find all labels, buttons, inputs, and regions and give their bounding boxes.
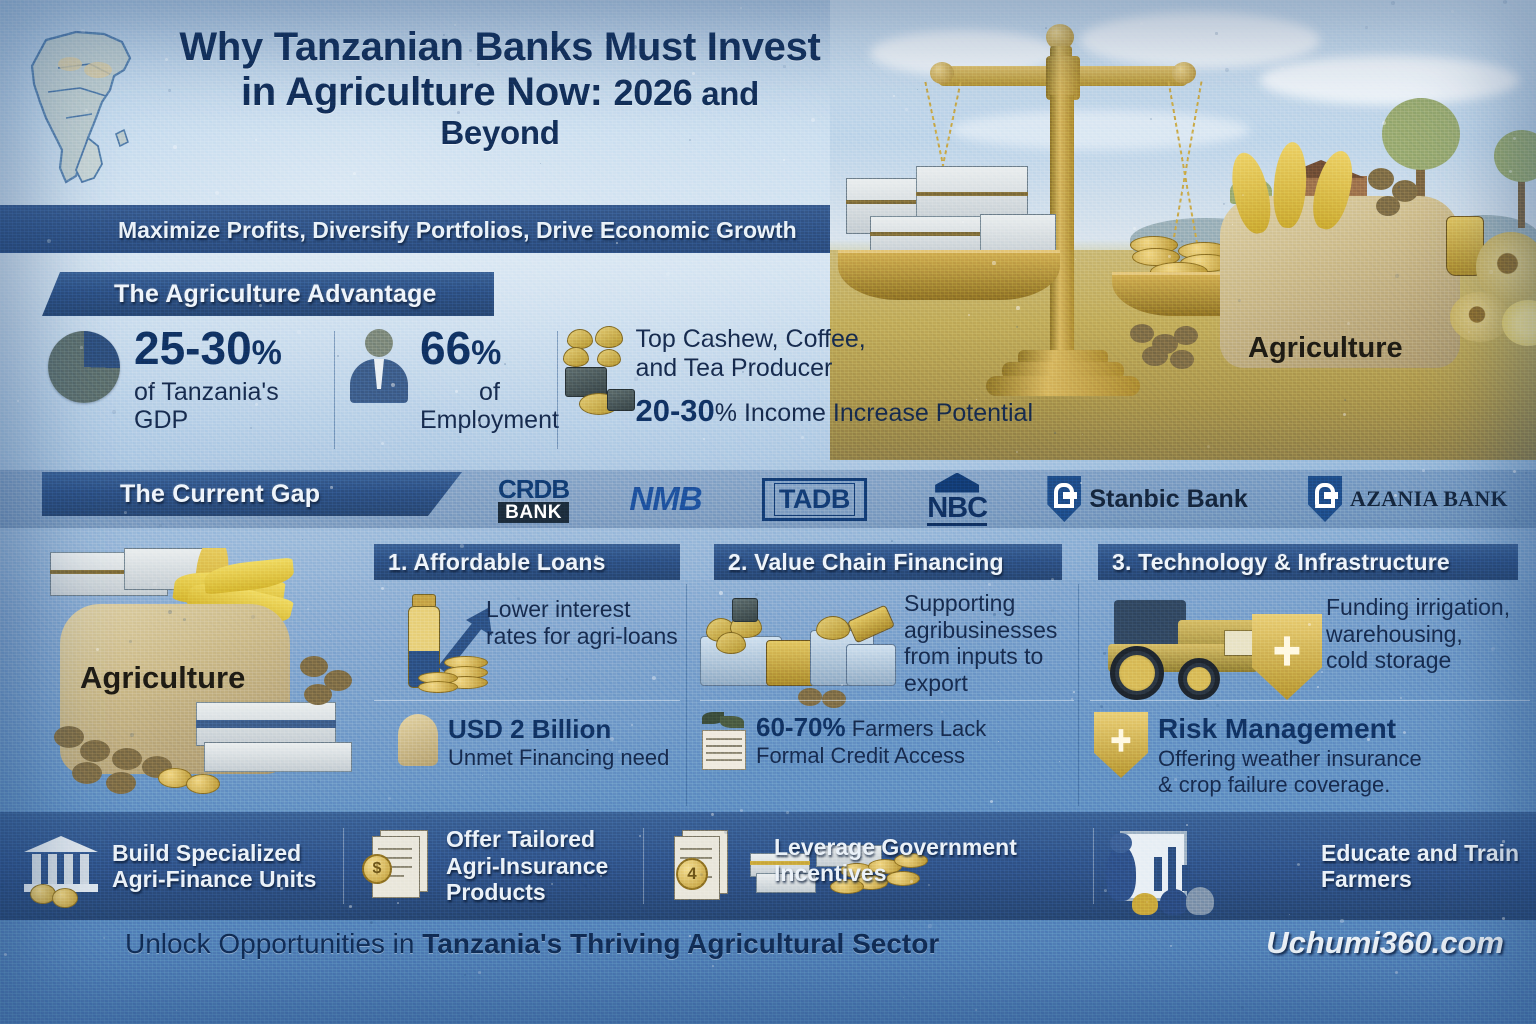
bank-column [64,854,73,884]
pillar-header-2: 2. Value Chain Financing [714,544,1062,580]
title-line-1: Why Tanzanian Banks Must Invest [175,25,825,70]
stat-employment-value: 66% [420,325,559,371]
pillar-divider [686,584,687,806]
stat-employment: 66% of Employment [348,325,563,455]
person-icon [348,329,410,403]
trainer-head [1110,833,1132,853]
action-build-agri-finance-units[interactable]: Build Specialized Agri-Finance Units [0,812,344,920]
action-leverage-government-incentives[interactable]: 4 Leverage Government Incentives [644,812,1094,920]
cashew-tea-icon [563,329,623,419]
training-presentation-icon [1120,831,1187,901]
cashew-nut-icon [597,349,621,367]
hero-sack-label: Agriculture [1248,332,1403,365]
gold-coin-icon [418,681,458,693]
page-subtitle: Maximize Profits, Diversify Portfolios, … [118,214,818,246]
bottle-coins-growth-icon [390,594,500,704]
pillar-1-stat-caption: Unmet Financing need [448,745,688,771]
pillar-1-stat: USD 2 Billion Unmet Financing need [448,714,688,772]
stanbic-shield-icon [1047,476,1081,522]
action-educate-train-farmers[interactable]: Educate and Train Farmers [1094,812,1536,920]
person-head [365,329,393,357]
tractor-grille [1224,630,1256,656]
pillar-3-stat-value: Risk Management [1158,713,1396,744]
scale-hub [1046,56,1080,100]
pillar-1-text: Lower interest rates for agri-loans [486,596,682,649]
pie-chart-icon [48,331,120,403]
actions-bar: Build Specialized Agri-Finance Units $ O… [0,812,1536,920]
crate-icon [846,644,896,686]
bank-building-icon [24,836,98,896]
pillar-row-divider [1090,700,1530,701]
stat-gdp: 25-30% of Tanzania's GDP [48,325,348,455]
pillar-3-text-line-2: warehousing, [1326,621,1536,648]
pillar-2-stat-caption-1: Farmers Lack [846,716,987,741]
producer-line-1: Top Cashew, Coffee, [635,325,1033,354]
bank-logo-tadb[interactable]: TADB [762,478,867,521]
pillar-3-stat-caption-1: Offering weather insurance [1158,746,1536,772]
pillar-3-stat: Risk Management Offering weather insuran… [1158,712,1536,798]
bean-icon [798,688,822,706]
pillar-3-text: Funding irrigation, warehousing, cold st… [1326,594,1536,674]
africa-map-icon [18,18,148,198]
chart-bar [1168,847,1176,891]
pillar-3-text-line-3: cold storage [1326,647,1536,674]
tree-crown [1382,98,1460,170]
nbc-mark-icon [935,473,979,493]
bean-icon [1376,196,1400,216]
doc-line [378,848,412,850]
pillar-row-divider [700,700,1074,701]
doc-line [680,848,712,850]
section-label: The Agriculture Advantage [114,280,437,309]
footer-text-b: Tanzania's Thriving Agricultural Sector [422,928,939,959]
learner-figure [1132,893,1158,915]
title-line-3: Beyond [175,115,825,152]
nmb-wordmark: NMB [629,480,701,518]
bank-roof [24,836,98,852]
tadb-wordmark: TADB [774,483,855,516]
pillar-2-text-line-2: agribusinesses [904,617,1080,644]
stat-divider [334,331,335,449]
producer-line-2: and Tea Producer [635,354,1033,383]
action-4-label: Educate and Train Farmers [1321,840,1536,893]
crdb-wordmark-bottom: BANK [498,502,569,523]
section-header-agriculture-advantage: The Agriculture Advantage [42,272,494,316]
pillar-2-text-line-1: Supporting [904,590,1080,617]
dollar-coin-icon: $ [362,854,392,884]
page-title: Why Tanzanian Banks Must Invest in Agric… [175,25,825,152]
bean-icon [822,690,846,708]
cashew-nut-icon [563,347,589,367]
pillar-2-text-line-4: export [904,670,1080,697]
pillar-3-text-line-1: Funding irrigation, [1326,594,1536,621]
action-3-label: Leverage Government Incentives [774,834,1094,887]
pillar-2-label: 2. Value Chain Financing [728,549,1004,576]
pillar-1-label: 1. Affordable Loans [388,549,606,576]
pillar-3-stat-caption-2: & crop failure coverage. [1158,772,1536,798]
action-offer-agri-insurance[interactable]: $ Offer Tailored Agri-Insurance Products [344,812,644,920]
gold-coin-icon [52,888,78,908]
bean-icon [1174,326,1198,345]
leaf-icon [720,716,744,728]
action-2-line-3: Products [446,879,608,905]
shield-icon [1252,614,1322,700]
pillar-1-text-line-2: rates for agri-loans [486,623,682,650]
bank-logo-crdb[interactable]: CRDB BANK [498,476,569,523]
pillar-1-text-line-1: Lower interest [486,596,682,623]
learner-figure [1186,887,1214,915]
jar-icon [766,640,816,686]
advantage-stats-row: 25-30% of Tanzania's GDP 66% of Employme… [48,325,1038,455]
tractor-wheel [1178,658,1220,700]
document-icon [702,730,746,770]
pillars-section: 1. Affordable Loans Lower interest rates… [0,536,1536,810]
avocado-half-icon [1450,292,1510,342]
coin-icon: 4 [676,858,708,890]
stanbic-wordmark: Stanbic Bank [1089,485,1247,514]
bean-icon [1368,168,1394,190]
trainer-figure [1106,845,1136,901]
produce-icon [716,632,746,654]
scale-pan-left [838,250,1060,300]
action-1-line-1: Build Specialized [112,840,316,866]
scale-end-knob [930,62,954,84]
stat-employment-caption-2: Employment [420,407,559,435]
pillar-1-stat-value: USD 2 Billion [448,714,611,744]
bank-logo-nmb[interactable]: NMB [629,480,701,518]
pillar-row-divider [374,700,680,701]
cloud-shape [950,110,1250,150]
bank-logo-stanbic[interactable]: Stanbic Bank [1047,476,1247,522]
pillar-header-3: 3. Technology & Infrastructure [1098,544,1518,580]
stat-gdp-caption-2: GDP [134,407,282,435]
bank-logo-nbc[interactable]: NBC [927,473,987,526]
pillar-2-stat: 60-70% Farmers Lack Formal Credit Access [756,712,1086,770]
seedling-document-icon [700,712,750,772]
brand-logo: Uchumi360.com [1266,925,1504,961]
action-2-line-1: Offer Tailored [446,826,608,852]
tractor-cab [1114,600,1186,646]
stat-divider [557,331,558,449]
stat-gdp-caption-1: of Tanzania's [134,379,282,407]
cashew-nut-icon [567,329,593,349]
title-line-2: in Agriculture Now: 2026 and [175,70,825,115]
cloud-shape [1260,55,1520,105]
action-1-line-2: Agri-Finance Units [112,866,316,892]
bean-icon [1142,346,1168,366]
bank-column [80,854,89,884]
tin-icon [732,598,758,622]
bean-icon [1170,350,1194,369]
cloud-shape [1080,12,1320,68]
cash-band [916,192,1028,196]
stat-producer: Top Cashew, Coffee, and Tea Producer 20-… [563,325,1033,455]
pillar-2-stat-caption-2: Formal Credit Access [756,743,1086,769]
section-label: The Current Gap [120,480,320,509]
chart-bar [1154,857,1162,891]
pillar-2-text-line-3: from inputs to [904,643,1080,670]
chart-bar [1182,865,1190,891]
bank-logo-azania[interactable]: AZANIA BANK [1308,476,1508,522]
produce-crates-icon [700,592,900,702]
footer-message: Unlock Opportunities in Tanzania's Thriv… [125,928,939,960]
pillar-3-label: 3. Technology & Infrastructure [1112,549,1450,576]
azania-wordmark: AZANIA BANK [1350,486,1508,512]
bank-logos-row: CRDB BANK NMB TADB NBC Stanbic Bank AZAN… [498,470,1508,528]
crdb-wordmark-top: CRDB [498,476,569,502]
action-2-line-2: Agri-Insurance [446,853,608,879]
tractor-wheel [1110,646,1164,700]
stat-gdp-value: 25-30% [134,325,282,371]
pillar-2-text: Supporting agribusinesses from inputs to… [904,590,1080,697]
stat-employment-caption-1: of [420,379,559,407]
azania-shield-icon [1308,476,1342,522]
bank-column [32,854,41,884]
scale-end-knob [1172,62,1196,84]
money-bag-icon [398,714,438,766]
bank-column [48,854,57,884]
government-incentives-money-icon: 4 [666,830,744,902]
tea-brick-icon [607,389,635,411]
footer-text-a: Unlock Opportunities in [125,928,422,959]
shield-cross-icon [1094,712,1148,778]
pillar-header-1: 1. Affordable Loans [374,544,680,580]
insurance-document-coin-icon: $ [366,830,432,902]
produce-icon [816,616,850,640]
learner-figure [1160,889,1188,915]
income-increase-stat: 20-30% Income Increase Potential [635,393,1033,429]
tractor-shield-icon [1100,592,1320,704]
infographic-page: Agriculture Why Tanzanian Banks Must Inv… [0,0,1536,1024]
cashew-nut-icon [595,326,623,348]
section-header-current-gap: The Current Gap [42,472,462,516]
pillar-2-stat-value: 60-70% [756,712,846,742]
bean-icon [1130,324,1154,343]
nbc-wordmark: NBC [927,494,987,526]
